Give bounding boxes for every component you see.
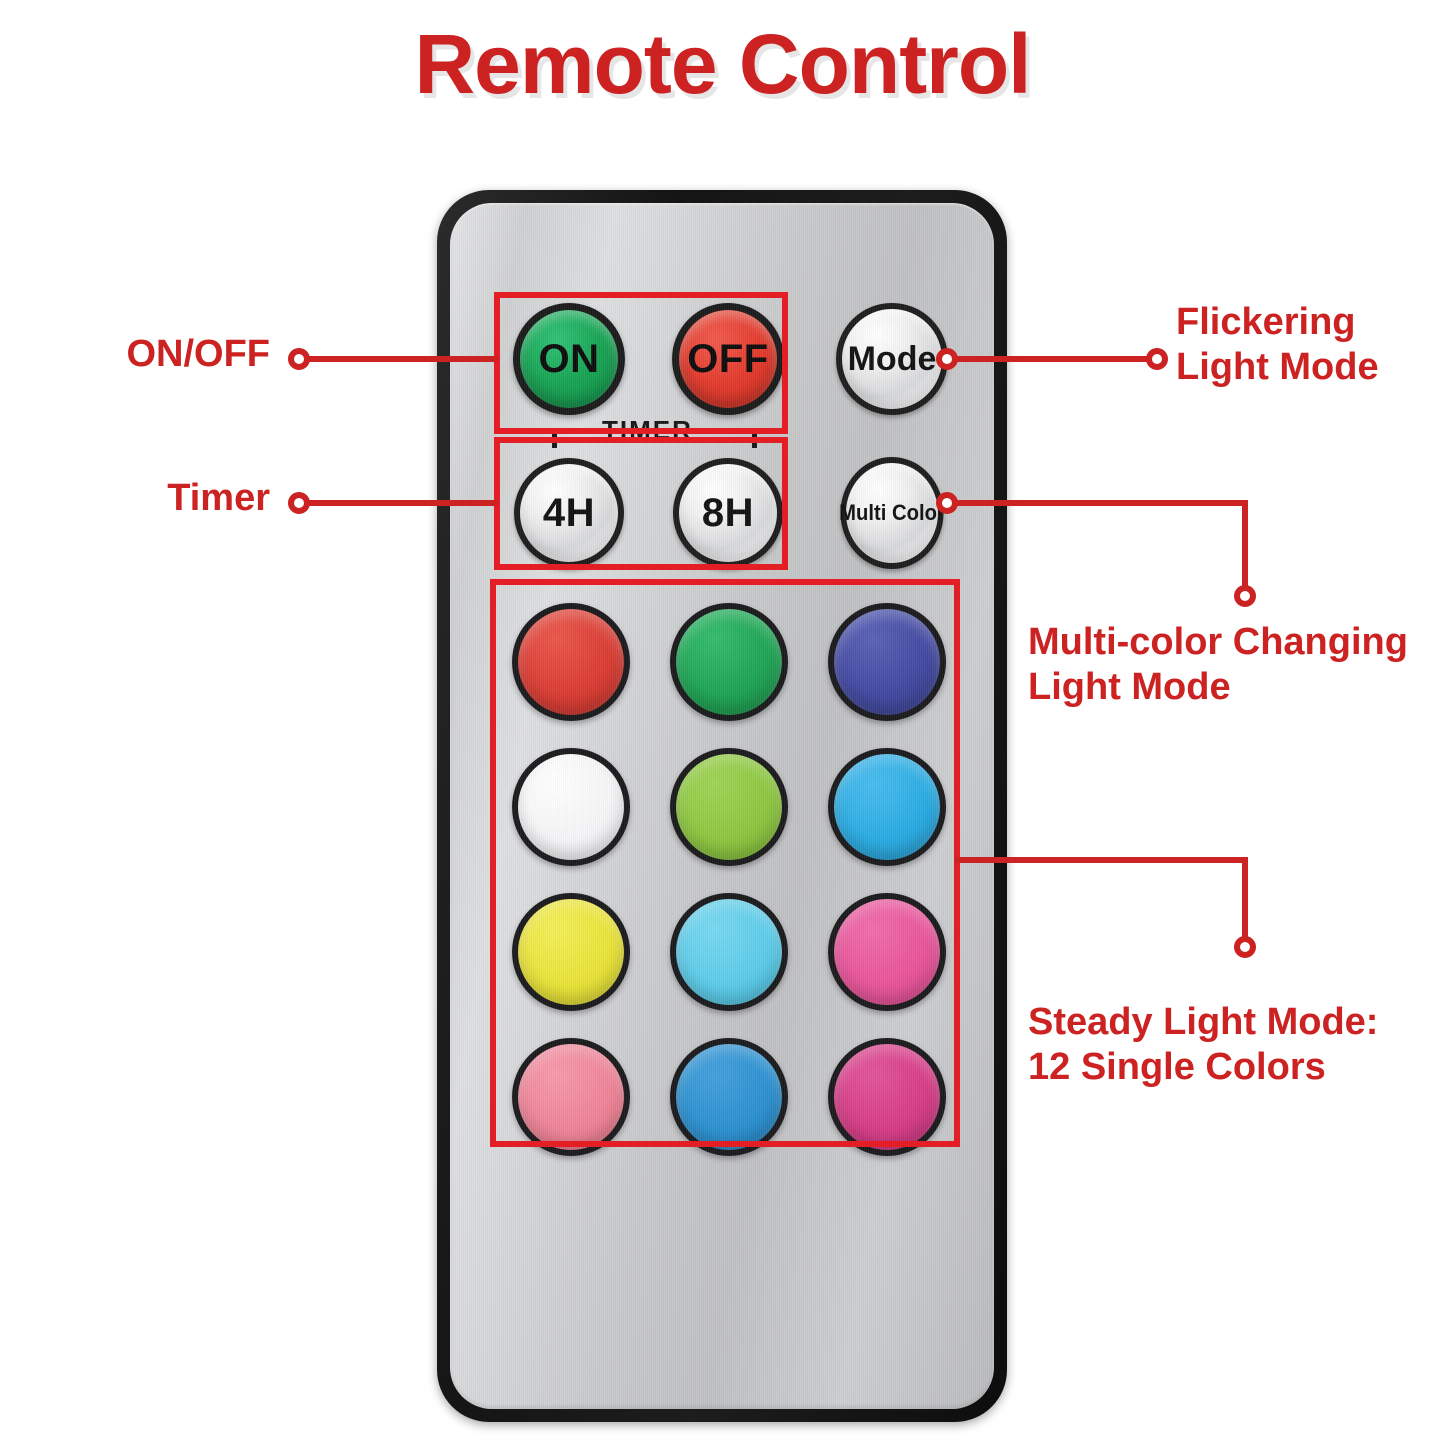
callout-on-off: ON/OFF — [40, 332, 270, 377]
callout-steady: Steady Light Mode: 12 Single Colors — [1028, 1000, 1445, 1090]
connector-dot-mode — [936, 348, 958, 370]
connector-dot-multi-color — [1234, 585, 1256, 607]
connector-multi-color-vertical — [1242, 500, 1248, 596]
annotation-box-colors — [490, 579, 960, 1147]
annotation-box-on-off — [494, 292, 788, 434]
connector-dot-on-off — [288, 348, 310, 370]
connector-on-off — [302, 356, 498, 362]
annotation-box-timer — [494, 437, 788, 570]
callout-flickering: Flickering Light Mode — [1176, 300, 1445, 390]
mode-button-label: Mode — [848, 340, 937, 379]
callout-multi-color: Multi-color Changing Light Mode — [1028, 620, 1445, 710]
connector-steady-horizontal — [955, 857, 1248, 863]
page-title: Remote Control — [0, 16, 1445, 113]
connector-dot-multi-color-button — [936, 492, 958, 514]
mode-button[interactable]: Mode — [836, 303, 948, 415]
connector-dot-flickering — [1146, 348, 1168, 370]
connector-multi-color-horizontal — [944, 500, 1248, 506]
infographic-canvas: Remote Control ON OFF Mode TIMER 4H — [0, 0, 1445, 1445]
connector-dot-timer — [288, 492, 310, 514]
multi-color-button[interactable]: Multi Color — [840, 457, 943, 569]
connector-timer — [302, 500, 498, 506]
callout-timer: Timer — [40, 476, 270, 521]
connector-dot-steady — [1234, 936, 1256, 958]
connector-flickering — [944, 356, 1152, 362]
multi-color-button-label: Multi Color — [839, 500, 945, 526]
